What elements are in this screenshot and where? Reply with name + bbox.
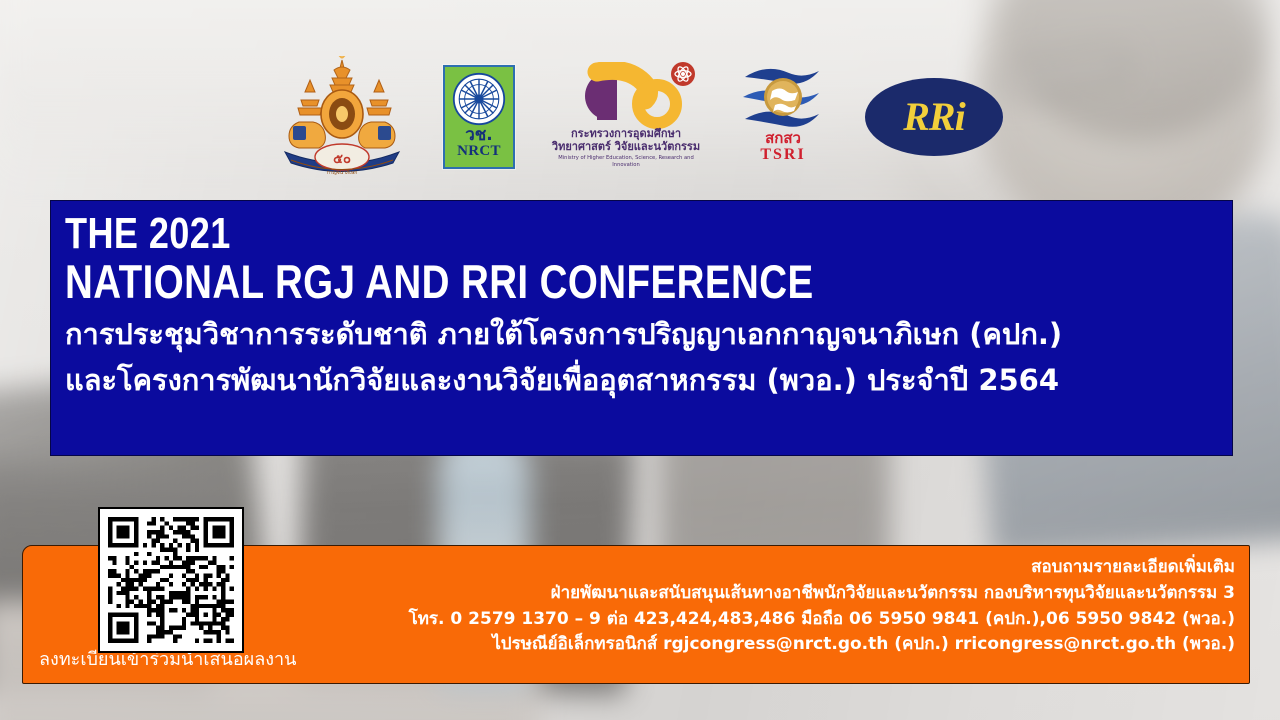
- rri-wordmark: RRi: [903, 97, 964, 137]
- mhesi-logo: กระทรวงการอุดมศึกษา วิทยาศาสตร์ วิจัยและ…: [551, 62, 701, 172]
- royal-emblem-icon: ๕๐ กาญจนาภิเษก: [277, 56, 407, 178]
- title-english-line2: NATIONAL RGJ AND RRI CONFERENCE: [65, 259, 1022, 304]
- title-thai-line2: และโครงการพัฒนานักวิจัยและงานวิจัยเพื่ออ…: [65, 358, 1232, 404]
- royal-emblem-logo: ๕๐ กาญจนาภิเษก: [277, 56, 407, 178]
- mhesi-thai-line2: วิทยาศาสตร์ วิจัยและนวัตกรรม: [551, 141, 701, 154]
- tsri-thai-label: สกสว: [737, 131, 829, 147]
- contact-details: สอบถามรายละเอียดเพิ่มเติม ฝ่ายพัฒนาและสน…: [409, 555, 1235, 658]
- logo-strip: ๕๐ กาญจนาภิเษก: [0, 52, 1280, 182]
- contact-heading: สอบถามรายละเอียดเพิ่มเติม: [409, 555, 1235, 581]
- tsri-english-label: TSRI: [737, 147, 829, 164]
- nrct-wheel-icon: [452, 72, 506, 126]
- tsri-globe-icon: [739, 61, 827, 137]
- contact-email: ไปรษณีย์อิเล็กทรอนิกส์ rgjcongress@nrct.…: [409, 632, 1235, 658]
- mhesi-english-line: Ministry of Higher Education, Science, R…: [551, 155, 701, 169]
- svg-text:กาญจนาภิเษก: กาญจนาภิเษก: [327, 169, 358, 176]
- conference-poster: ๕๐ กาญจนาภิเษก: [0, 0, 1280, 720]
- contact-department: ฝ่ายพัฒนาและสนับสนุนเส้นทางอาชีพนักวิจัย…: [409, 581, 1235, 607]
- title-english-line1: THE 2021: [65, 213, 1022, 255]
- svg-text:๕๐: ๕๐: [333, 152, 351, 167]
- nrct-thai-label: วช.: [465, 127, 493, 144]
- tsri-logo: สกสว TSRI: [737, 61, 829, 173]
- contact-phone: โทร. 0 2579 1370 – 9 ต่อ 423,424,483,486…: [409, 607, 1235, 633]
- qr-code-icon[interactable]: [108, 517, 234, 643]
- registration-qr-code[interactable]: [98, 507, 244, 653]
- rri-logo: RRi: [865, 78, 1003, 156]
- mhesi-go-icon: [557, 62, 695, 132]
- title-thai-line1: การประชุมวิชาการระดับชาติ ภายใต้โครงการป…: [65, 312, 1232, 358]
- nrct-english-label: NRCT: [457, 144, 501, 159]
- nrct-logo: วช. NRCT: [443, 65, 515, 169]
- title-banner: THE 2021 NATIONAL RGJ AND RRI CONFERENCE…: [50, 200, 1233, 456]
